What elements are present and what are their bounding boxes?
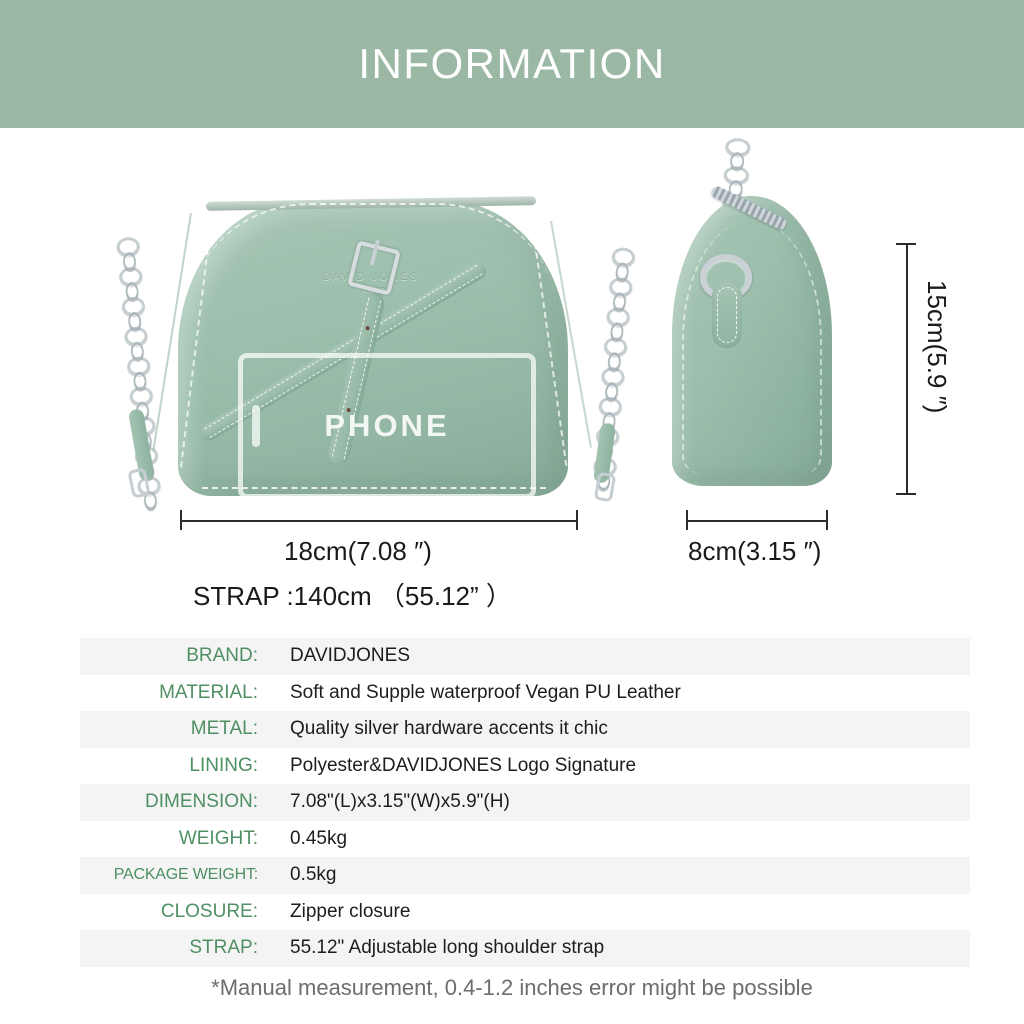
table-row: METAL: Quality silver hardware accents i…	[80, 711, 970, 748]
depth-dimension-tick-right	[826, 510, 828, 530]
bag-side-view-image	[650, 146, 900, 516]
spec-label: PACKAGE WEIGHT:	[80, 866, 270, 884]
strap-length-label: STRAP :140cm （55.12” ）	[193, 576, 512, 613]
height-dimension-line	[906, 243, 908, 495]
spec-label: MATERIAL:	[80, 682, 270, 704]
width-dimension-line	[180, 520, 578, 522]
measurement-disclaimer: *Manual measurement, 0.4-1.2 inches erro…	[0, 975, 1024, 1001]
phone-size-overlay: PHONE	[238, 353, 536, 499]
table-row: DIMENSION: 7.08"(L)x3.15"(W)x5.9"(H)	[80, 784, 970, 821]
spec-value: 55.12" Adjustable long shoulder strap	[270, 937, 970, 959]
depth-dimension-label: 8cm(3.15 ″)	[688, 536, 821, 567]
strap-hole	[365, 326, 370, 331]
spec-label: METAL:	[80, 718, 270, 740]
spec-value: 0.5kg	[270, 864, 970, 886]
table-row: MATERIAL: Soft and Supple waterproof Veg…	[80, 675, 970, 712]
spec-label: BRAND:	[80, 645, 270, 667]
width-dimension-label: 18cm(7.08 ″)	[284, 536, 432, 567]
table-row: CLOSURE: Zipper closure	[80, 894, 970, 931]
height-dimension-label: 15cm(5.9 ″)	[921, 280, 952, 413]
spec-label: WEIGHT:	[80, 828, 270, 850]
spec-label: STRAP:	[80, 937, 270, 959]
depth-dimension-line	[686, 520, 828, 522]
width-dimension-tick-left	[180, 510, 182, 530]
table-row: WEIGHT: 0.45kg	[80, 821, 970, 858]
spec-value: Zipper closure	[270, 901, 970, 923]
spec-label: LINING:	[80, 755, 270, 777]
table-row: PACKAGE WEIGHT: 0.5kg	[80, 857, 970, 894]
table-row: STRAP: 55.12" Adjustable long shoulder s…	[80, 930, 970, 967]
spec-value: DAVIDJONES	[270, 645, 970, 667]
bag-front-view-image: DAVID JONES PARIS PHONE	[110, 173, 630, 503]
spec-label: CLOSURE:	[80, 901, 270, 923]
spec-value: 7.08"(L)x3.15"(W)x5.9"(H)	[270, 791, 970, 813]
spec-label: DIMENSION:	[80, 791, 270, 813]
information-header-band: INFORMATION	[0, 0, 1024, 128]
height-dimension-tick-bottom	[896, 493, 916, 495]
width-dimension-tick-right	[576, 510, 578, 530]
table-row: BRAND: DAVIDJONES	[80, 638, 970, 675]
spec-value: Quality silver hardware accents it chic	[270, 718, 970, 740]
product-image-area: DAVID JONES PARIS PHONE 18cm(7.08 ″) STR…	[0, 128, 1024, 628]
bag-side-leather-tab	[712, 282, 742, 348]
phone-overlay-label: PHONE	[324, 408, 449, 444]
spec-value: 0.45kg	[270, 828, 970, 850]
spec-value: Soft and Supple waterproof Vegan PU Leat…	[270, 682, 970, 704]
bag-body-side	[672, 196, 832, 486]
strap-clip-right-icon	[594, 472, 617, 503]
page-title: INFORMATION	[358, 40, 665, 88]
depth-dimension-tick-left	[686, 510, 688, 530]
phone-side-button-icon	[252, 405, 260, 447]
spec-value: Polyester&DAVIDJONES Logo Signature	[270, 755, 970, 777]
specifications-table: BRAND: DAVIDJONES MATERIAL: Soft and Sup…	[80, 638, 970, 967]
height-dimension-tick-top	[896, 243, 916, 245]
table-row: LINING: Polyester&DAVIDJONES Logo Signat…	[80, 748, 970, 785]
